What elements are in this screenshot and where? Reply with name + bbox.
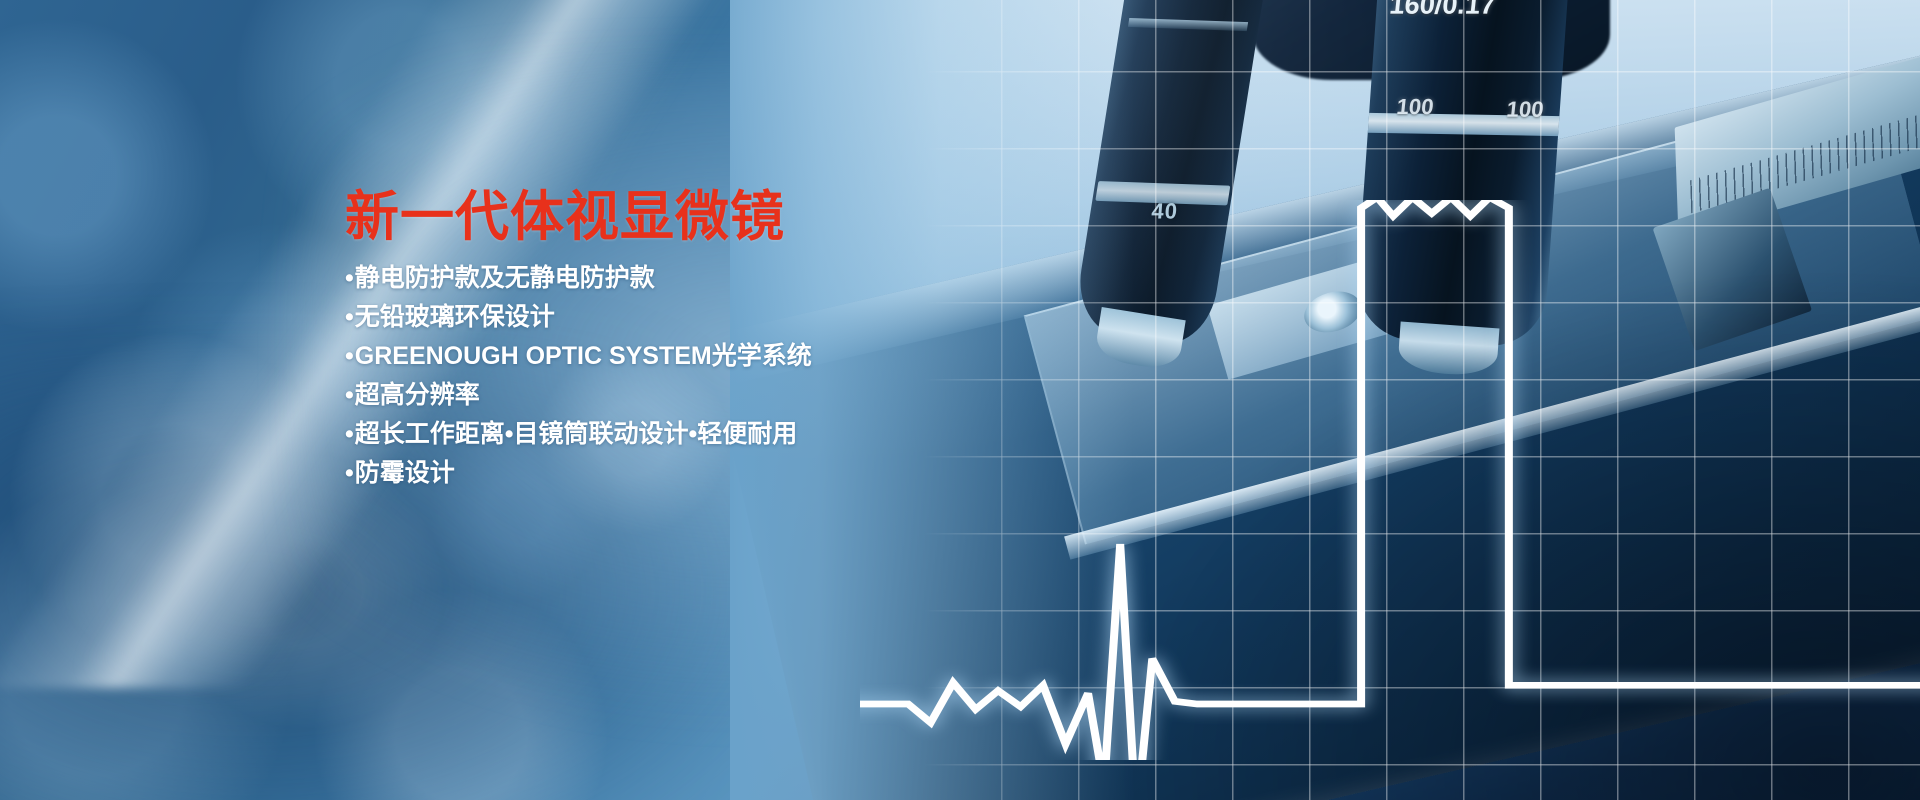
feature-item-1: •静电防护款及无静电防护款 — [345, 266, 985, 291]
objective-left-magnification-label: 40 — [1150, 199, 1178, 225]
objective-right-side-label-right: 100 — [1506, 97, 1546, 123]
feature-item-1-label: 静电防护款及无静电防护款 — [355, 264, 655, 292]
feature-item-4: •超高分辨率 — [345, 383, 985, 408]
feature-item-3-label: GREENOUGH OPTIC SYSTEM光学系统 — [355, 342, 812, 370]
bullet-marker-icon: • — [345, 381, 354, 409]
objective-right-tube-label: 160/0.17 — [1388, 0, 1497, 21]
hero-banner: 40 100/1.25 160/0.17 100 100 新一代体视显微镜 •静… — [0, 0, 1920, 800]
feature-item-2: •无铅玻璃环保设计 — [345, 305, 985, 330]
feature-item-6-label: 防霉设计 — [355, 459, 455, 487]
feature-list: •静电防护款及无静电防护款 •无铅玻璃环保设计 •GREENOUGH OPTIC… — [345, 266, 985, 486]
feature-item-6: •防霉设计 — [345, 461, 985, 486]
bullet-marker-icon: • — [345, 303, 354, 331]
feature-item-4-label: 超高分辨率 — [355, 381, 480, 409]
feature-item-5: •超长工作距离•目镜筒联动设计•轻便耐用 — [345, 422, 985, 447]
feature-item-5-label: 超长工作距离•目镜筒联动设计•轻便耐用 — [355, 420, 798, 448]
page-title: 新一代体视显微镜 — [345, 190, 985, 244]
bullet-marker-icon: • — [345, 420, 354, 448]
objective-right-side-label-left: 100 — [1395, 94, 1435, 120]
bullet-marker-icon: • — [345, 342, 354, 370]
feature-item-3: •GREENOUGH OPTIC SYSTEM光学系统 — [345, 344, 985, 369]
objective-right-barrel — [1354, 0, 1575, 350]
bullet-marker-icon: • — [345, 264, 354, 292]
objective-lens-right: 100/1.25 160/0.17 100 100 — [1354, 0, 1575, 350]
bullet-marker-icon: • — [345, 459, 354, 487]
banner-copy: 新一代体视显微镜 •静电防护款及无静电防护款 •无铅玻璃环保设计 •GREENO… — [345, 190, 985, 500]
feature-item-2-label: 无铅玻璃环保设计 — [355, 303, 555, 331]
